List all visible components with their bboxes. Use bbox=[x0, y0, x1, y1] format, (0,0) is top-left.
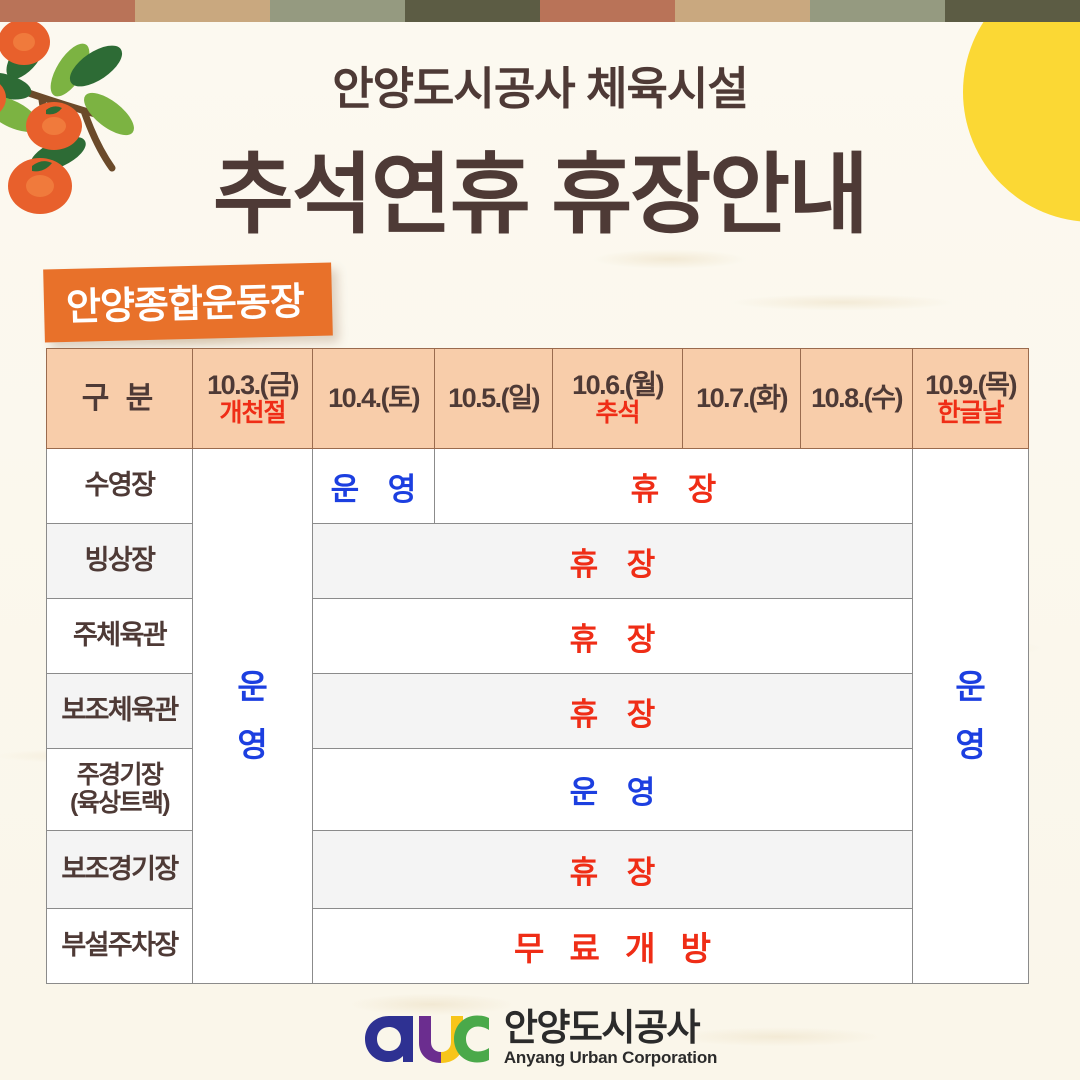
page-subtitle: 안양도시공사 체육시설 bbox=[0, 52, 1080, 117]
stripe-segment bbox=[135, 0, 270, 22]
holiday-schedule-table: 구 분 10.3.(금) 개천절 10.4.(토) 10.5.(일) 10.6.… bbox=[46, 348, 1029, 984]
cell-ice-rink-status: 휴 장 bbox=[313, 524, 913, 599]
row-label-parking-lot: 부설주차장 bbox=[47, 909, 193, 984]
stripe-segment bbox=[810, 0, 945, 22]
column-header-oct4: 10.4.(토) bbox=[313, 349, 435, 449]
page-title: 추석연휴 휴장안내 bbox=[0, 124, 1080, 251]
column-header-oct8: 10.8.(수) bbox=[801, 349, 913, 449]
stripe-segment bbox=[0, 0, 135, 22]
cell-parking-status: 무 료 개 방 bbox=[313, 909, 913, 984]
cell-aux-gym-status: 휴 장 bbox=[313, 674, 913, 749]
row-label-swimming-pool: 수영장 bbox=[47, 449, 193, 524]
stripe-segment bbox=[540, 0, 675, 22]
cell-swimming-oct4: 운 영 bbox=[313, 449, 435, 524]
auc-logo-icon bbox=[363, 1012, 491, 1064]
column-header-oct3: 10.3.(금) 개천절 bbox=[193, 349, 313, 449]
cell-main-gym-status: 휴 장 bbox=[313, 599, 913, 674]
stripe-segment bbox=[405, 0, 540, 22]
column-header-oct7: 10.7.(화) bbox=[683, 349, 801, 449]
table-row: 수영장 운 영 운 영 휴 장 운 영 bbox=[47, 449, 1029, 524]
cell-main-stadium-status: 운 영 bbox=[313, 749, 913, 831]
row-label-auxiliary-stadium: 보조경기장 bbox=[47, 831, 193, 909]
column-header-oct5: 10.5.(일) bbox=[435, 349, 553, 449]
row-label-main-stadium: 주경기장 (육상트랙) bbox=[47, 749, 193, 831]
stripe-segment bbox=[675, 0, 810, 22]
logo-english-name: Anyang Urban Corporation bbox=[504, 1049, 717, 1066]
column-header-gubun: 구 분 bbox=[47, 349, 193, 449]
venue-banner-label: 안양종합운동장 bbox=[43, 262, 332, 342]
cell-swimming-oct5-oct8: 휴 장 bbox=[435, 449, 913, 524]
row-label-main-gymnasium: 주체육관 bbox=[47, 599, 193, 674]
footer-logo: 안양도시공사 Anyang Urban Corporation bbox=[0, 1009, 1080, 1066]
oct3-status-cell: 운 영 bbox=[193, 449, 313, 984]
top-stripe-bar bbox=[0, 0, 1080, 22]
cell-aux-stadium-status: 휴 장 bbox=[313, 831, 913, 909]
stripe-segment bbox=[270, 0, 405, 22]
logo-korean-name: 안양도시공사 bbox=[504, 1009, 717, 1046]
column-header-oct9: 10.9.(목) 한글날 bbox=[913, 349, 1029, 449]
logo-text-block: 안양도시공사 Anyang Urban Corporation bbox=[504, 1009, 717, 1066]
column-header-oct6: 10.6.(월) 추석 bbox=[553, 349, 683, 449]
stripe-segment bbox=[945, 0, 1080, 22]
row-label-ice-rink: 빙상장 bbox=[47, 524, 193, 599]
row-label-auxiliary-gymnasium: 보조체육관 bbox=[47, 674, 193, 749]
oct9-status-cell: 운 영 bbox=[913, 449, 1029, 984]
table-header-row: 구 분 10.3.(금) 개천절 10.4.(토) 10.5.(일) 10.6.… bbox=[47, 349, 1029, 449]
